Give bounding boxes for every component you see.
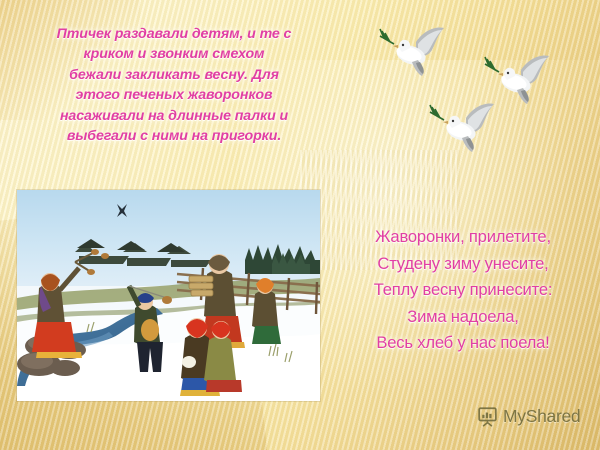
heading-line: бежали закликать весну. Для <box>18 65 330 85</box>
poem-line: Студену зиму унесите, <box>330 251 596 278</box>
myshared-label: MyShared <box>503 406 580 427</box>
poem-line: Жаворонки, прилетите, <box>330 224 596 251</box>
presentation-board-icon <box>477 406 498 427</box>
painting-illustration <box>17 190 320 401</box>
dove-with-branch-icon <box>378 24 456 82</box>
slide-canvas: Птичек раздавали детям, и те с криком и … <box>0 0 600 450</box>
dove-with-branch-icon <box>428 100 506 158</box>
poem-line: Теплу весну принесите: <box>330 277 596 304</box>
heading-line: Птичек раздавали детям, и те с <box>18 24 330 44</box>
heading-paragraph: Птичек раздавали детям, и те с криком и … <box>18 24 330 146</box>
heading-line: насаживали на длинные палки и <box>18 106 330 126</box>
heading-line: криком и звонким смехом <box>18 44 330 64</box>
poem-line: Весь хлеб у нас поела! <box>330 330 596 357</box>
poem-line: Зима надоела, <box>330 304 596 331</box>
painting-image <box>17 190 320 401</box>
heading-line: выбегали с ними на пригорки. <box>18 126 330 146</box>
poem-block: Жаворонки, прилетите, Студену зиму унеси… <box>330 224 596 357</box>
heading-line: этого печеных жаворонков <box>18 85 330 105</box>
myshared-watermark: MyShared <box>477 406 580 427</box>
